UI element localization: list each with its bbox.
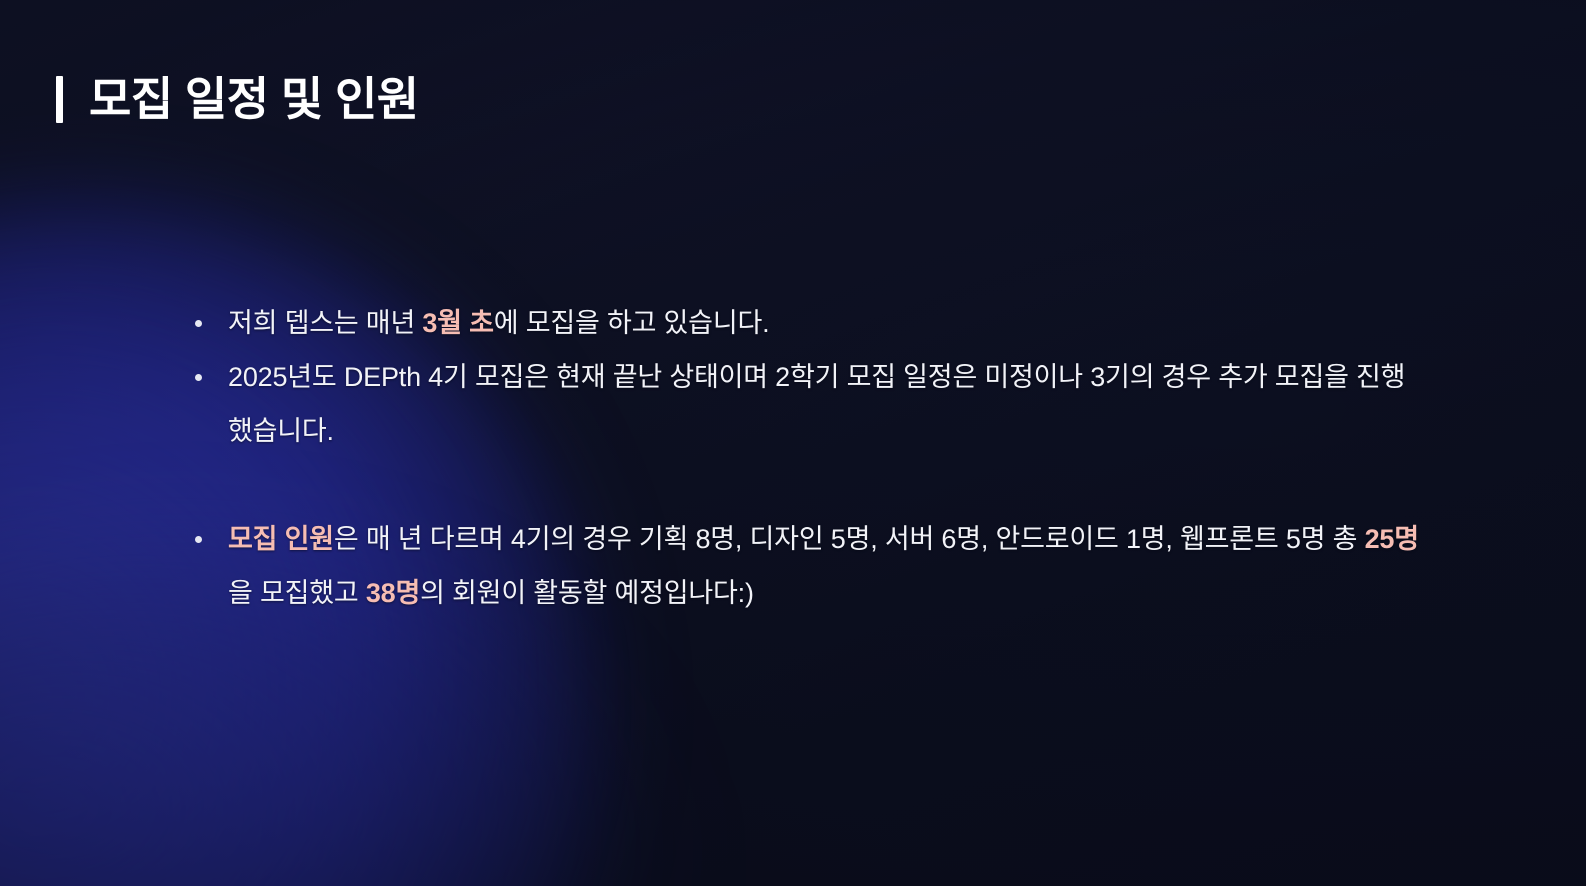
body-text: 에 모집을 하고 있습니다. [494,308,770,338]
accent-text: 38명 [366,578,420,608]
body-text: 을 모집했고 [228,578,366,608]
bullet-item: 2025년도 DEPth 4기 모집은 현재 끝난 상태이며 2학기 모집 일정… [190,350,1420,458]
accent-text: 25명 [1365,524,1419,554]
page-title: 모집 일정 및 인원 [89,76,419,122]
body-text: 의 회원이 활동할 예정입나다:) [420,578,754,608]
bullet-content: 저희 뎁스는 매년 3월 초에 모집을 하고 있습니다.2025년도 DEPth… [190,296,1420,620]
accent-text: 모집 인원 [228,524,334,554]
bullet-group-headcount: 모집 인원은 매 년 다르며 4기의 경우 기획 8명, 디자인 5명, 서버 … [190,512,1420,620]
title-bar-icon [56,76,63,123]
body-text: 저희 뎁스는 매년 [228,308,422,338]
bullet-item: 모집 인원은 매 년 다르며 4기의 경우 기획 8명, 디자인 5명, 서버 … [190,512,1420,620]
bullet-group-schedule: 저희 뎁스는 매년 3월 초에 모집을 하고 있습니다.2025년도 DEPth… [190,296,1420,458]
body-text: 2025년도 DEPth 4기 모집은 현재 끝난 상태이며 2학기 모집 일정… [228,362,1405,446]
slide-header: 모집 일정 및 인원 [56,66,419,132]
accent-text: 3월 초 [422,308,493,338]
bullet-item: 저희 뎁스는 매년 3월 초에 모집을 하고 있습니다. [190,296,1420,350]
slide-canvas: 모집 일정 및 인원 저희 뎁스는 매년 3월 초에 모집을 하고 있습니다.2… [0,0,1586,886]
group-spacer [190,458,1420,512]
body-text: 은 매 년 다르며 4기의 경우 기획 8명, 디자인 5명, 서버 6명, 안… [334,524,1365,554]
